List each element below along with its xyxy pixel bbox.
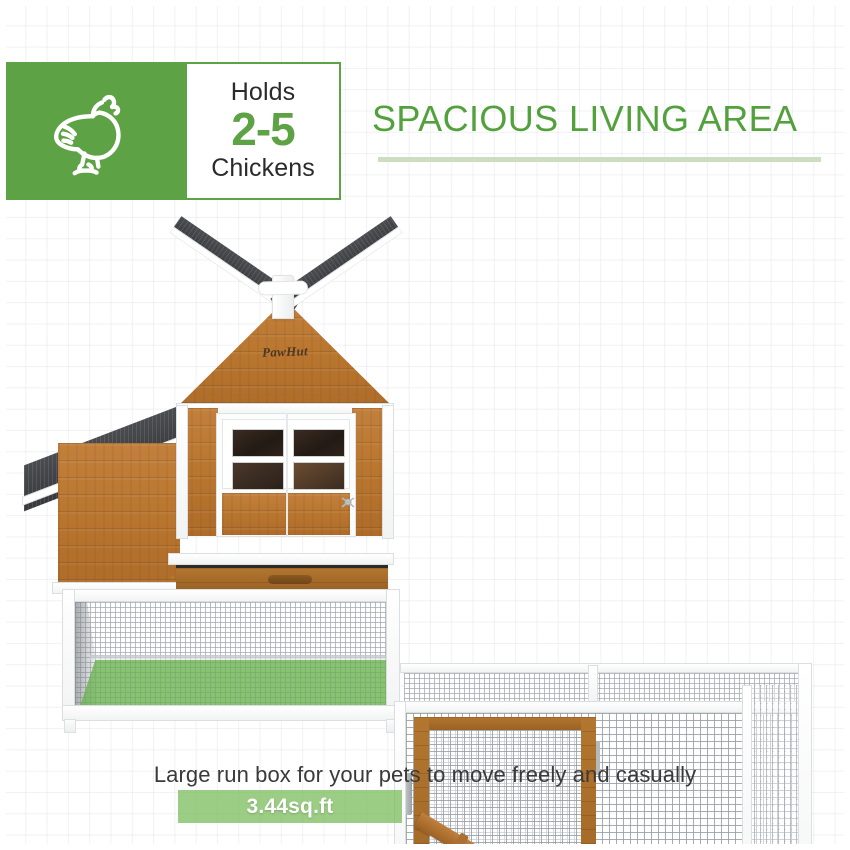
page-title: SPACIOUS LIVING AREA <box>372 98 797 140</box>
left-run-floor-rail <box>90 655 386 660</box>
run-door-top-rail <box>414 717 596 730</box>
infographic-canvas: Holds 2-5 Chickens SPACIOUS LIVING AREA … <box>0 0 850 850</box>
house-post-left <box>176 405 188 539</box>
house-post-right <box>382 405 394 539</box>
door-pane-bottom-left <box>232 462 284 490</box>
left-run-left-post <box>62 589 75 719</box>
right-run-back-top-rail <box>400 663 802 673</box>
nest-box-wall <box>58 443 180 585</box>
left-run-floor-area <box>80 660 386 706</box>
chicken-icon-cell <box>0 62 185 200</box>
product-illustration: PawHut <box>0 255 850 735</box>
door-pane-top-right <box>293 429 345 457</box>
tray-shelf <box>168 553 394 565</box>
left-run-bottom-rail <box>62 705 400 721</box>
coop-door[interactable] <box>216 413 356 537</box>
tray-handle[interactable] <box>268 575 312 584</box>
chicken-icon <box>41 79 145 183</box>
brand-logo: PawHut <box>262 343 308 361</box>
holds-label: Holds <box>231 79 295 105</box>
capacity-badge: Holds 2-5 Chickens <box>185 62 341 200</box>
right-run-right-post <box>798 663 812 850</box>
door-latch-icon[interactable] <box>340 495 356 509</box>
door-pane-top-left <box>232 429 284 457</box>
left-run-top-rail <box>62 589 400 602</box>
footer-caption: Large run box for your pets to move free… <box>0 762 850 788</box>
title-underline <box>378 157 821 162</box>
right-run-roof-divider <box>588 665 598 703</box>
coop-area-label: 3.44sq.ft <box>178 790 402 823</box>
door-center-seam <box>286 413 288 537</box>
right-run-roof-mesh <box>404 673 800 703</box>
chickens-label: Chickens <box>211 155 315 181</box>
left-run-leg-front <box>64 719 76 733</box>
left-run-right-post <box>386 589 400 719</box>
roof-ridge-trim <box>258 281 308 296</box>
door-pane-bottom-right <box>293 462 345 490</box>
capacity-count: 2-5 <box>231 105 294 155</box>
